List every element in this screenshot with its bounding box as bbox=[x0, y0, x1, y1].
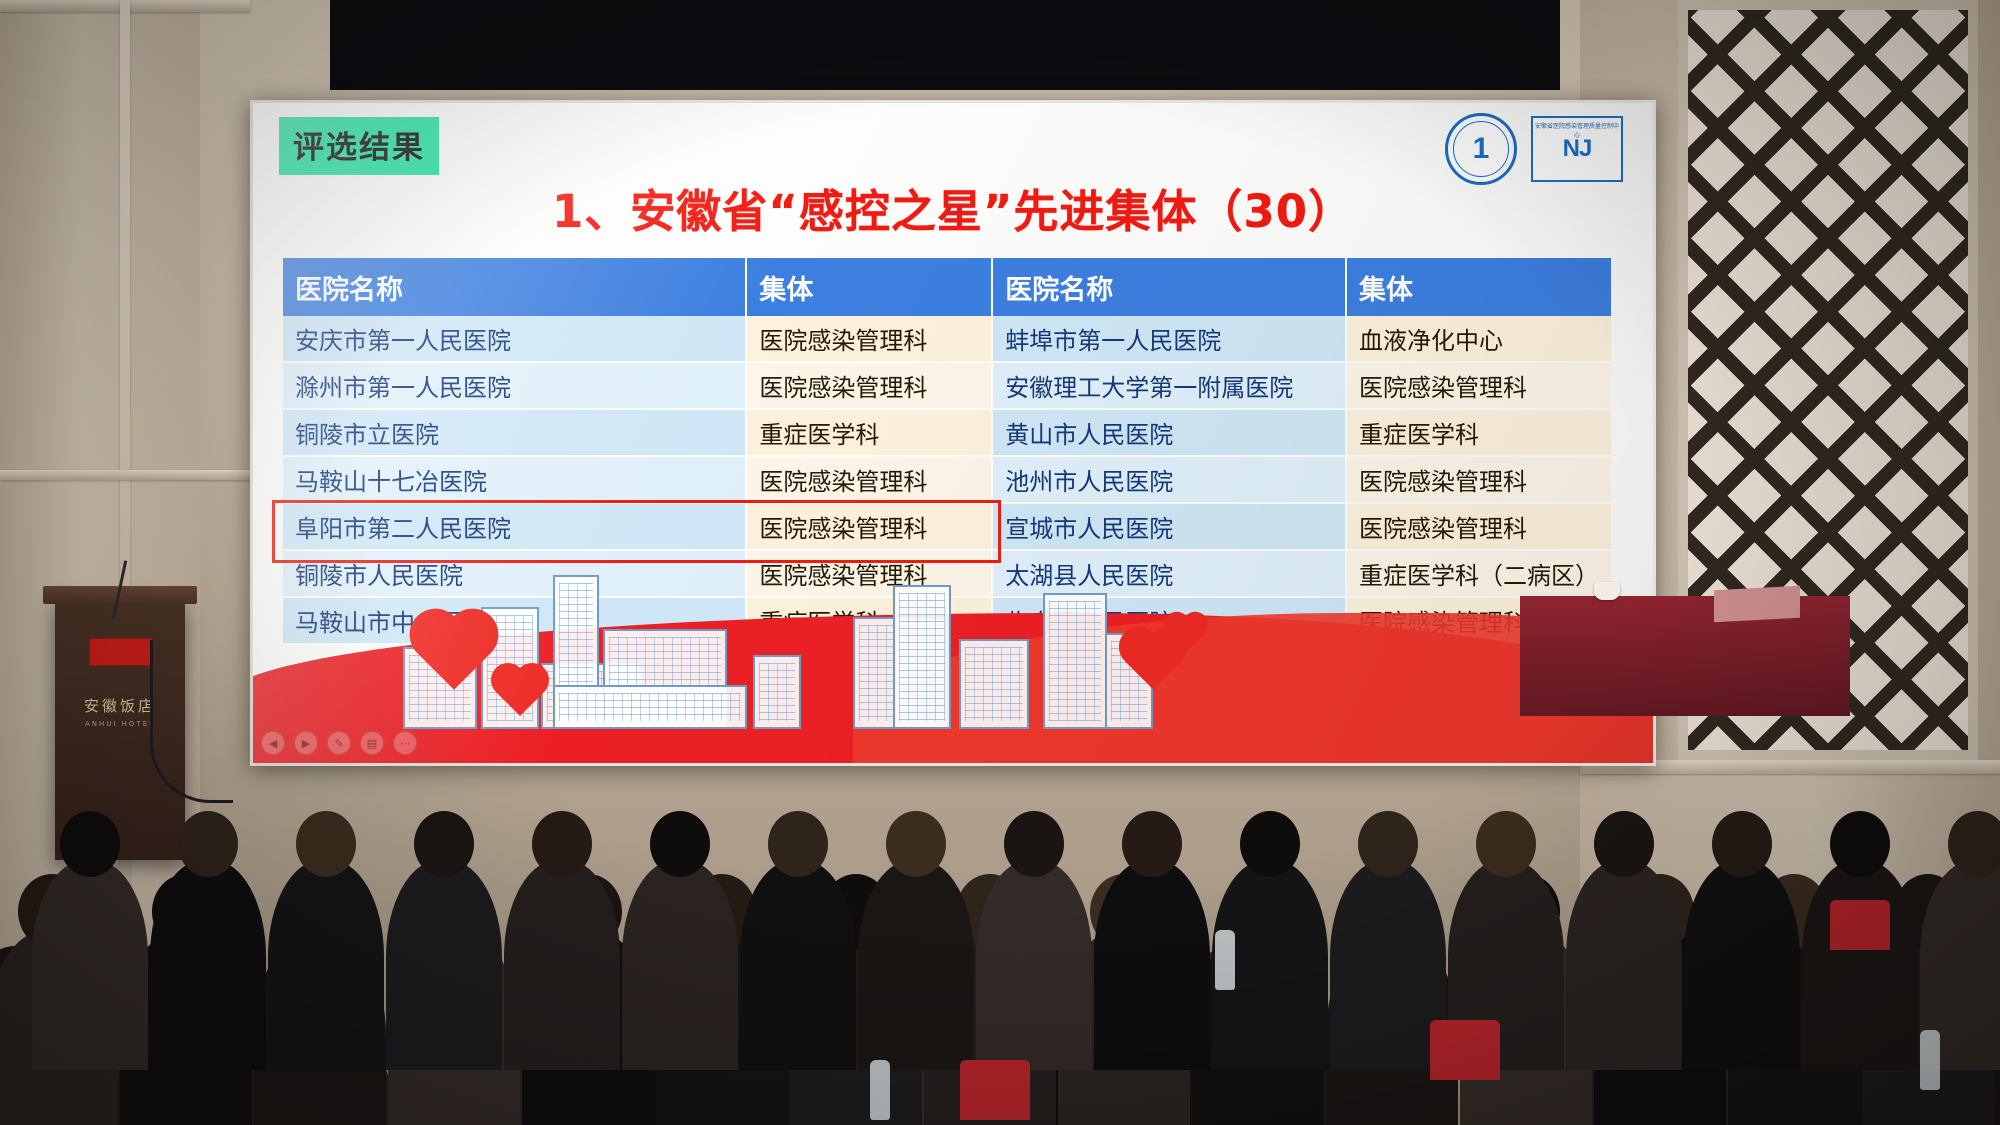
table-row: 安庆市第一人民医院医院感染管理科蚌埠市第一人民医院血液净化中心 bbox=[283, 316, 1612, 362]
projection-screen: 评选结果 1 安徽省医院感染管理质量控制中心 NJ 1、安徽省“感控之星”先进集… bbox=[250, 100, 1656, 766]
audience-head bbox=[414, 811, 474, 877]
audience-head bbox=[886, 811, 946, 877]
audience-head bbox=[1948, 811, 2000, 877]
audience-head bbox=[296, 811, 356, 877]
audience-head bbox=[60, 811, 120, 877]
audience-member bbox=[504, 860, 620, 1070]
audience-member bbox=[622, 860, 738, 1070]
audience-member bbox=[1094, 860, 1210, 1070]
ceiling-band bbox=[330, 0, 1560, 90]
slide-illustration bbox=[253, 563, 1653, 763]
name-plate bbox=[1714, 586, 1800, 623]
audience-head bbox=[532, 811, 592, 877]
audience-head bbox=[1830, 811, 1890, 877]
cell-hospital: 马鞍山十七冶医院 bbox=[283, 456, 746, 503]
table-header-row: 医院名称 集体 医院名称 集体 bbox=[283, 258, 1612, 316]
cell-hospital: 滁州市第一人民医院 bbox=[283, 362, 746, 409]
audience-head bbox=[1122, 811, 1182, 877]
cell-team: 医院感染管理科 bbox=[746, 362, 992, 409]
wall-molding-mid-left bbox=[0, 470, 250, 480]
column-header-team-2: 集体 bbox=[1346, 258, 1612, 316]
pen-button[interactable]: ✎ bbox=[327, 731, 351, 755]
audience-member bbox=[1566, 860, 1682, 1070]
cell-hospital: 铜陵市立医院 bbox=[283, 409, 746, 456]
presentation-player-bar[interactable]: ◀▶✎▤⋯ bbox=[261, 731, 417, 755]
cell-team: 医院感染管理科 bbox=[1346, 503, 1612, 550]
cell-hospital: 黄山市人民医院 bbox=[992, 409, 1346, 456]
chair bbox=[1830, 900, 1890, 950]
table-row: 滁州市第一人民医院医院感染管理科安徽理工大学第一附属医院医院感染管理科 bbox=[283, 362, 1612, 409]
table-row: 铜陵市立医院重症医学科黄山市人民医院重症医学科 bbox=[283, 409, 1612, 456]
nosocomial-infection-logo: 安徽省医院感染管理质量控制中心 NJ bbox=[1531, 116, 1623, 182]
cell-hospital: 阜阳市第二人民医院 bbox=[283, 503, 746, 550]
chair bbox=[1430, 1020, 1500, 1080]
cell-team: 重症医学科 bbox=[746, 409, 992, 456]
cell-hospital: 安庆市第一人民医院 bbox=[283, 316, 746, 362]
audience-head bbox=[1004, 811, 1064, 877]
audience-head bbox=[1712, 811, 1772, 877]
column-header-hospital-1: 医院名称 bbox=[283, 258, 746, 316]
chair bbox=[960, 1060, 1030, 1120]
audience-member bbox=[268, 860, 384, 1070]
side-table bbox=[1520, 596, 1850, 716]
cell-hospital: 安徽理工大学第一附属医院 bbox=[992, 362, 1346, 409]
cell-hospital: 蚌埠市第一人民医院 bbox=[992, 316, 1346, 362]
water-bottle bbox=[1920, 1030, 1940, 1090]
cell-team: 医院感染管理科 bbox=[746, 456, 992, 503]
cell-team: 医院感染管理科 bbox=[1346, 362, 1612, 409]
previous-button[interactable]: ◀ bbox=[261, 731, 285, 755]
cell-hospital: 池州市人民医院 bbox=[992, 456, 1346, 503]
cell-team: 血液净化中心 bbox=[1346, 316, 1612, 362]
table-row: 阜阳市第二人民医院医院感染管理科宣城市人民医院医院感染管理科 bbox=[283, 503, 1612, 550]
cell-team: 重症医学科 bbox=[1346, 409, 1612, 456]
conference-room-photo: 评选结果 1 安徽省医院感染管理质量控制中心 NJ 1、安徽省“感控之星”先进集… bbox=[0, 0, 2000, 1125]
audience-member bbox=[1802, 860, 1918, 1070]
audience-member bbox=[976, 860, 1092, 1070]
cell-hospital: 宣城市人民医院 bbox=[992, 503, 1346, 550]
audience-member bbox=[1330, 860, 1446, 1070]
audience-member bbox=[386, 860, 502, 1070]
audience-head bbox=[650, 811, 710, 877]
audience-member bbox=[150, 860, 266, 1070]
teacup bbox=[1594, 582, 1620, 600]
cell-team: 医院感染管理科 bbox=[746, 503, 992, 550]
play-button[interactable]: ▶ bbox=[294, 731, 318, 755]
audience-member bbox=[858, 860, 974, 1070]
audience-head bbox=[1358, 811, 1418, 877]
slide-view-button[interactable]: ▤ bbox=[360, 731, 384, 755]
audience-head bbox=[1594, 811, 1654, 877]
audience-head bbox=[1240, 811, 1300, 877]
cable bbox=[150, 640, 233, 803]
column-header-hospital-2: 医院名称 bbox=[992, 258, 1346, 316]
water-bottle bbox=[1215, 930, 1235, 990]
page-title: 1、安徽省“感控之星”先进集体（30） bbox=[253, 175, 1653, 240]
table-row: 马鞍山十七冶医院医院感染管理科池州市人民医院医院感染管理科 bbox=[283, 456, 1612, 503]
lectern-red-plate bbox=[89, 638, 153, 666]
audience-member bbox=[32, 860, 148, 1070]
water-bottle bbox=[870, 1060, 890, 1120]
audience-member bbox=[740, 860, 856, 1070]
section-badge: 评选结果 bbox=[279, 117, 439, 175]
cell-team: 医院感染管理科 bbox=[1346, 456, 1612, 503]
cell-team: 医院感染管理科 bbox=[746, 316, 992, 362]
audience-head bbox=[178, 811, 238, 877]
audience-head bbox=[1476, 811, 1536, 877]
audience-member bbox=[1684, 860, 1800, 1070]
column-header-team-1: 集体 bbox=[746, 258, 992, 316]
more-options-button[interactable]: ⋯ bbox=[393, 731, 417, 755]
audience-head bbox=[768, 811, 828, 877]
